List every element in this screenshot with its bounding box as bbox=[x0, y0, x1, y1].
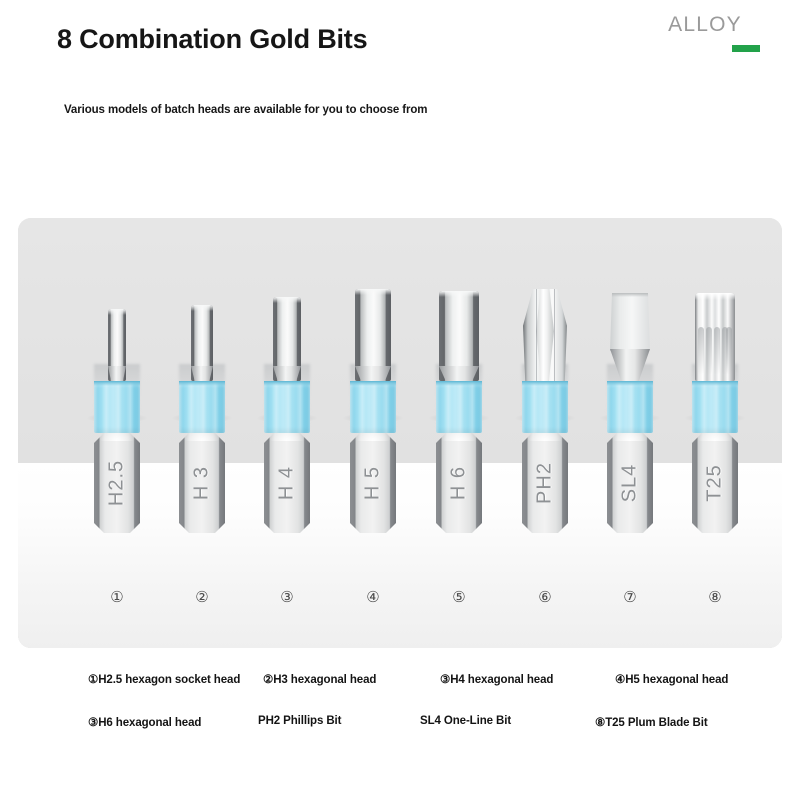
bit-number-5: ⑤ bbox=[452, 590, 465, 605]
bit-number-7: ⑦ bbox=[623, 590, 636, 605]
legend-item-r1-4: ④H5 hexagonal head bbox=[615, 672, 728, 686]
bit-number-6: ⑥ bbox=[538, 590, 551, 605]
bit-number-8: ⑧ bbox=[708, 590, 721, 605]
bit-number-2: ② bbox=[195, 590, 208, 605]
page-title: 8 Combination Gold Bits bbox=[57, 24, 367, 55]
legend-item-r2-2: PH2 Phillips Bit bbox=[258, 715, 341, 727]
legend-item-r1-1: ①H2.5 hexagon socket head bbox=[88, 672, 240, 686]
legend-item-r1-2: ②H3 hexagonal head bbox=[263, 672, 376, 686]
product-infographic: ALLOY 8 Combination Gold Bits Various mo… bbox=[0, 0, 800, 800]
bit-number-4: ④ bbox=[366, 590, 379, 605]
bit-number-3: ③ bbox=[280, 590, 293, 605]
brand-accent-bar bbox=[732, 45, 760, 52]
legend: ①H2.5 hexagon socket head②H3 hexagonal h… bbox=[0, 672, 800, 758]
page-subtitle: Various models of batch heads are availa… bbox=[64, 104, 427, 116]
bit-number-1: ① bbox=[110, 590, 123, 605]
legend-row-2: ③H6 hexagonal headPH2 Phillips BitSL4 On… bbox=[0, 715, 800, 758]
bit-number-row: ①②③④⑤⑥⑦⑧ bbox=[18, 218, 782, 648]
legend-item-r1-3: ③H4 hexagonal head bbox=[440, 672, 553, 686]
legend-row-1: ①H2.5 hexagon socket head②H3 hexagonal h… bbox=[0, 672, 800, 715]
brand-accent-bar-wrap bbox=[640, 35, 770, 52]
brand-logo: ALLOY bbox=[640, 14, 770, 52]
product-panel: H2.5H 3H 4H 5H 6PH2SL4T25 ①②③④⑤⑥⑦⑧ bbox=[18, 218, 782, 648]
legend-item-r2-3: SL4 One-Line Bit bbox=[420, 715, 511, 727]
brand-name: ALLOY bbox=[640, 14, 770, 35]
legend-item-r2-1: ③H6 hexagonal head bbox=[88, 715, 201, 729]
legend-item-r2-4: ⑧T25 Plum Blade Bit bbox=[595, 715, 708, 729]
